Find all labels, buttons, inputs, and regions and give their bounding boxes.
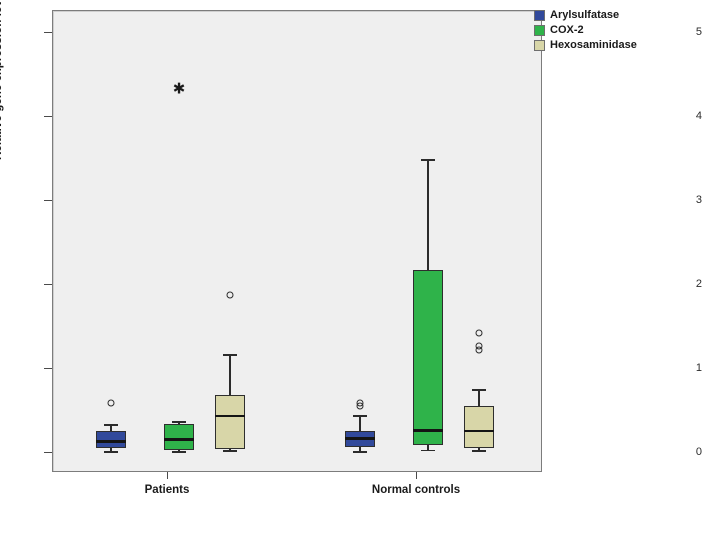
y-axis-tick-label: 1 (662, 362, 702, 374)
y-axis-tick (44, 368, 52, 369)
plot-area: ✱ (52, 10, 542, 472)
y-axis-tick-label: 3 (662, 194, 702, 206)
median-line (164, 438, 194, 441)
x-axis-group-label: Patients (145, 484, 190, 496)
legend-swatch-arylsulfatase (534, 10, 545, 21)
outlier-point (476, 346, 483, 353)
whisker-cap-upper (421, 159, 435, 161)
box-hexosaminidase (215, 395, 245, 449)
legend-label-hexosaminidase: Hexosaminidase (550, 39, 637, 51)
median-line (215, 415, 245, 418)
legend: Arylsulfatase COX-2 Hexosaminidase (534, 8, 637, 53)
y-axis-tick-label: 0 (662, 446, 702, 458)
legend-item-hexosaminidase: Hexosaminidase (534, 38, 637, 52)
whisker-cap-lower (353, 451, 367, 453)
legend-item-arylsulfatase: Arylsulfatase (534, 8, 637, 22)
outlier-point (476, 329, 483, 336)
x-axis-tick (416, 472, 417, 479)
extreme-outlier-point: ✱ (173, 82, 186, 97)
median-line (345, 437, 375, 440)
whisker-cap-lower (223, 450, 237, 452)
whisker-cap-lower (172, 451, 186, 453)
whisker-cap-lower (104, 451, 118, 453)
y-axis-tick (44, 32, 52, 33)
whisker-cap-lower (472, 450, 486, 452)
x-axis-group-label: Normal controls (372, 484, 460, 496)
whisker-upper (229, 354, 231, 395)
y-axis-tick (44, 452, 52, 453)
boxplot-chart: Relative gene expression level 543210 ✱ … (0, 0, 702, 539)
median-line (464, 430, 494, 433)
x-axis-tick (167, 472, 168, 479)
whisker-cap-upper (172, 421, 186, 423)
y-axis-tick-label: 4 (662, 110, 702, 122)
y-axis-tick (44, 284, 52, 285)
y-axis-tick-label: 5 (662, 26, 702, 38)
whisker-upper (359, 415, 361, 431)
whisker-cap-upper (353, 415, 367, 417)
median-line (413, 429, 443, 432)
whisker-cap-upper (223, 354, 237, 356)
legend-item-cox-2: COX-2 (534, 23, 637, 37)
y-axis-tick (44, 116, 52, 117)
legend-label-arylsulfatase: Arylsulfatase (550, 9, 619, 21)
whisker-cap-upper (104, 424, 118, 426)
box-cox-2 (164, 424, 194, 449)
box-hexosaminidase (464, 406, 494, 448)
outlier-point (357, 402, 364, 409)
y-axis-tick-label: 2 (662, 278, 702, 290)
y-axis-tick (44, 200, 52, 201)
box-cox-2 (413, 270, 443, 446)
whisker-cap-upper (472, 389, 486, 391)
outlier-point (108, 399, 115, 406)
whisker-cap-lower (421, 450, 435, 452)
legend-label-cox-2: COX-2 (550, 24, 584, 36)
whisker-upper (427, 159, 429, 270)
outlier-point (227, 292, 234, 299)
median-line (96, 440, 126, 443)
whisker-upper (478, 389, 480, 406)
legend-swatch-cox-2 (534, 25, 545, 36)
legend-swatch-hexosaminidase (534, 40, 545, 51)
y-axis-title: Relative gene expression level (0, 0, 4, 160)
